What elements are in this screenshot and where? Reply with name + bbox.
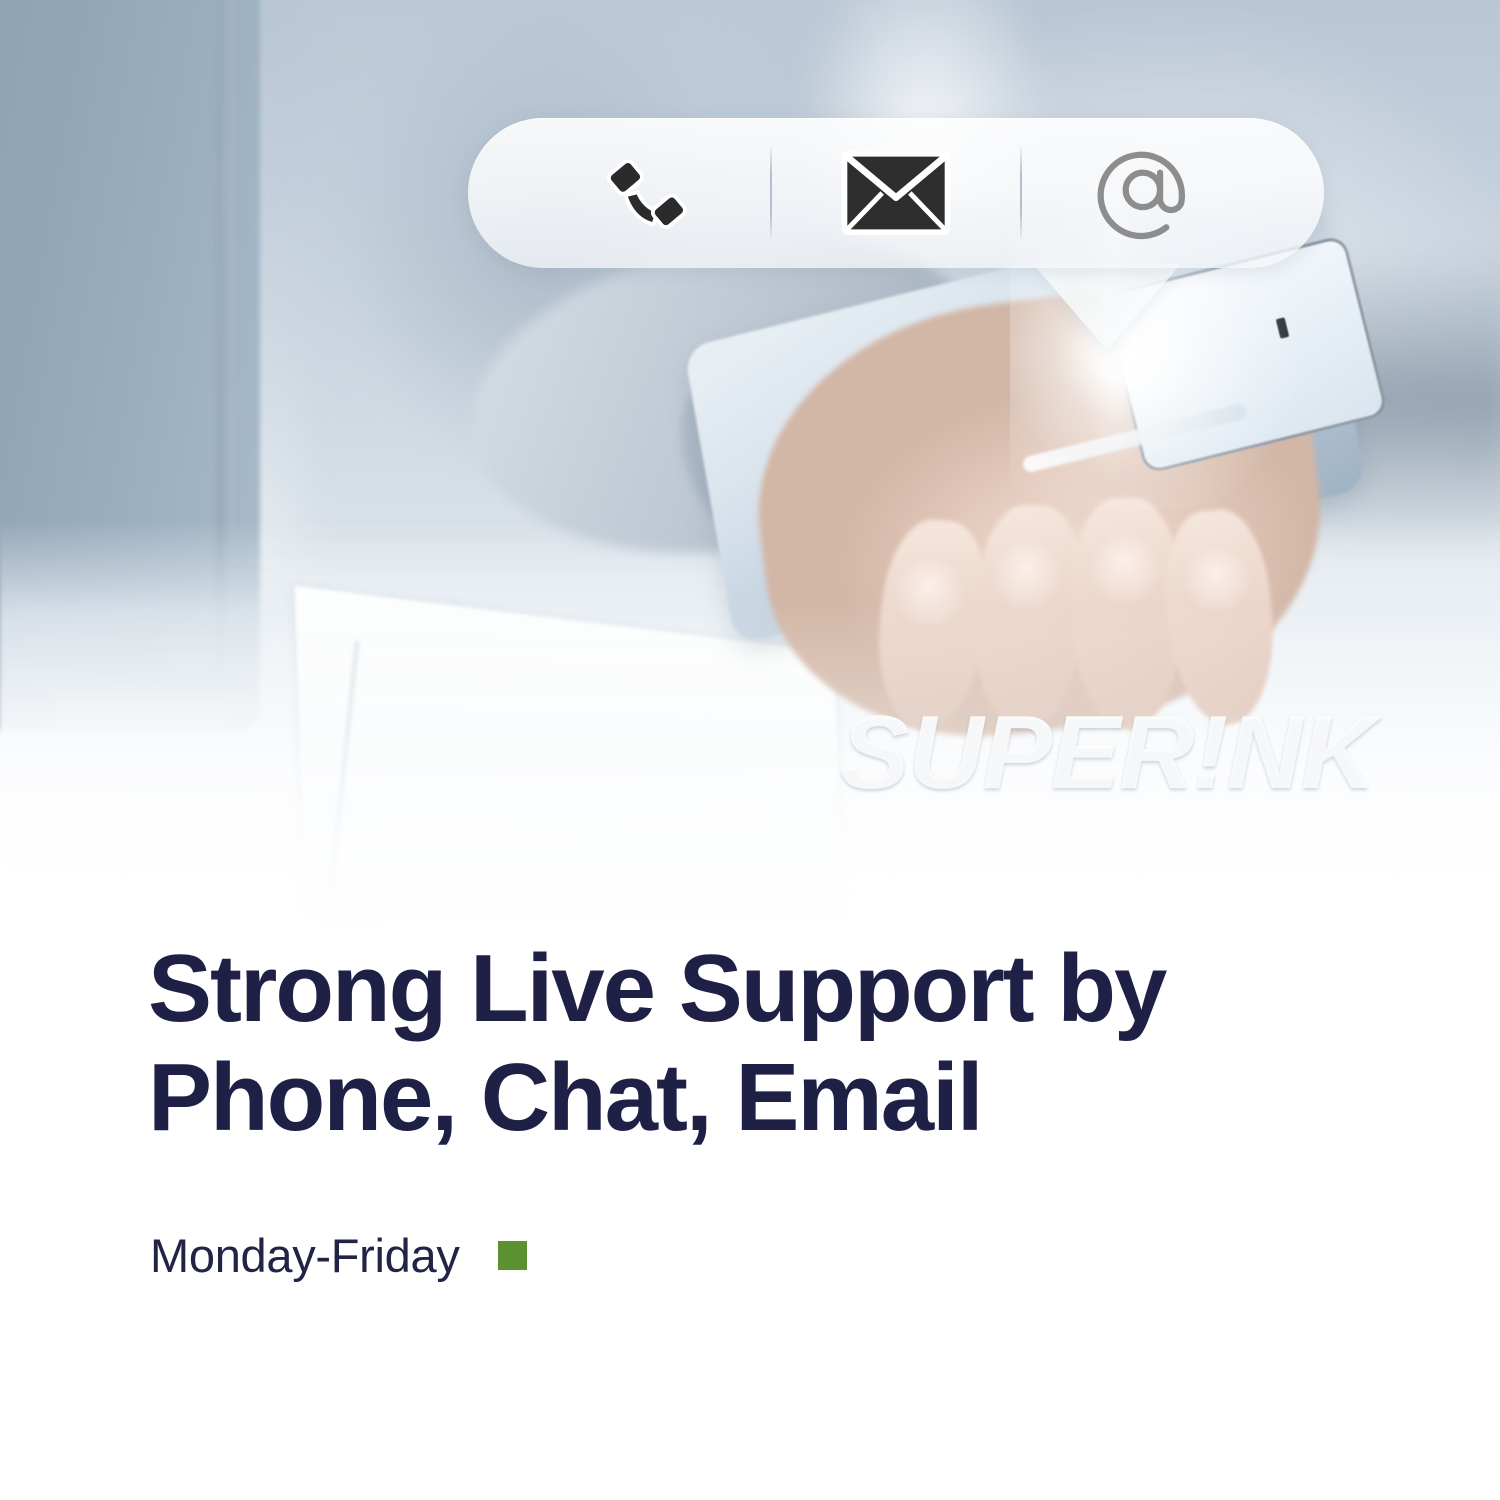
headline-line-2: Phone, Chat, Email bbox=[148, 1043, 1328, 1152]
fingernail bbox=[893, 560, 965, 624]
contact-pill-bar bbox=[468, 118, 1324, 268]
support-banner: SUPER!NK bbox=[0, 0, 1500, 1500]
at-sign-icon bbox=[1096, 143, 1196, 243]
fingernail bbox=[1086, 534, 1162, 602]
green-accent-square bbox=[498, 1241, 527, 1270]
headline-line-1: Strong Live Support by bbox=[148, 934, 1328, 1043]
subtitle-row: Monday-Friday bbox=[150, 1232, 527, 1279]
superink-watermark: SUPER!NK bbox=[840, 694, 1375, 813]
phone-icon bbox=[600, 147, 692, 239]
fingernail bbox=[1181, 548, 1251, 610]
contact-item-at[interactable] bbox=[1022, 118, 1270, 268]
speech-bubble-tail bbox=[1033, 264, 1181, 350]
contact-item-phone[interactable] bbox=[522, 118, 770, 268]
envelope-icon bbox=[840, 150, 952, 236]
availability-text: Monday-Friday bbox=[150, 1232, 460, 1279]
page-title: Strong Live Support by Phone, Chat, Emai… bbox=[148, 934, 1328, 1153]
contact-item-email[interactable] bbox=[772, 118, 1020, 268]
fingernail bbox=[989, 542, 1063, 608]
contact-bubble bbox=[468, 118, 1324, 268]
